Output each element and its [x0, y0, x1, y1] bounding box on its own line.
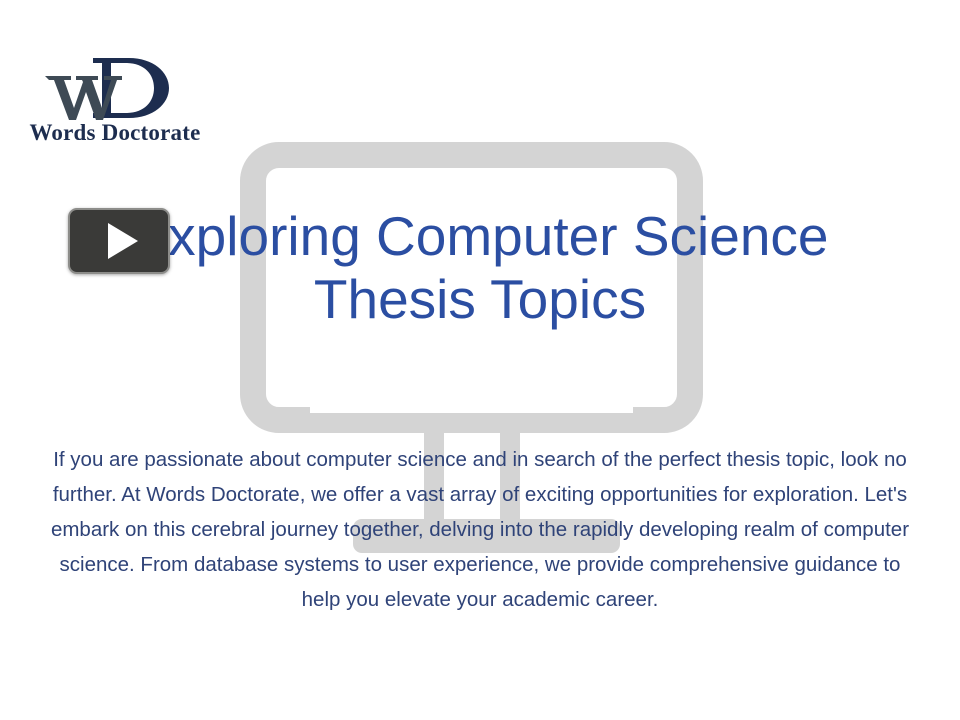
slide-canvas: Words Doctorate Exploring Computer Scien… [0, 0, 960, 720]
words-doctorate-logo: Words Doctorate [15, 52, 215, 148]
logo-wordmark: Words Doctorate [15, 120, 215, 146]
body-paragraph: If you are passionate about computer sci… [45, 442, 915, 617]
page-title-line-2: Thesis Topics [30, 268, 930, 331]
play-triangle-icon [108, 223, 138, 259]
play-button[interactable] [68, 208, 170, 274]
wd-monogram-icon [15, 52, 215, 120]
